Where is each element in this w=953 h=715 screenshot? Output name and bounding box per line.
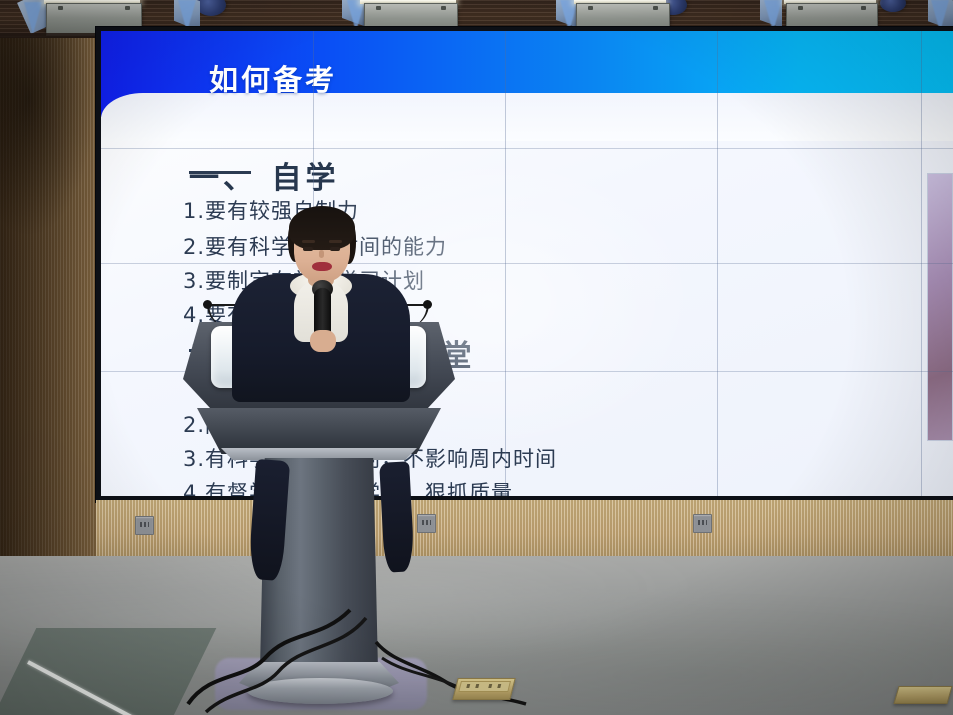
hand	[310, 330, 336, 352]
eyebrow-left	[302, 240, 315, 243]
microphone-capsule	[423, 300, 432, 309]
slide-header-curve	[101, 93, 953, 141]
screenshot-root: 如何备考 一、 自学 1.要有较强自制力 2.要有科学支配时间的能力 3.要制定…	[0, 0, 953, 715]
cardigan-flap-right	[379, 461, 415, 572]
speaker	[232, 212, 410, 402]
wall-outlet[interactable]	[135, 516, 154, 535]
floor-power-outlet[interactable]	[893, 686, 952, 704]
floor-power-outlet[interactable]	[452, 678, 515, 700]
mouth	[312, 262, 332, 271]
eyebrow-right	[329, 240, 342, 243]
led-tile-seam	[101, 263, 953, 264]
outlet-face	[458, 681, 511, 692]
nose	[319, 250, 324, 258]
light-cone	[24, 2, 42, 34]
wall-outlet[interactable]	[693, 514, 712, 533]
section-heading-1: 一、 自学	[189, 153, 339, 197]
led-tile-seam	[101, 148, 953, 149]
slide-title: 如何备考	[209, 57, 337, 99]
wall-shadow	[0, 38, 95, 238]
eye-right	[330, 247, 340, 251]
slide-photo	[927, 173, 953, 441]
hair	[289, 206, 355, 250]
microphone-capsule	[203, 300, 212, 309]
podium-skirt	[197, 408, 441, 454]
eye-left	[303, 247, 313, 251]
step-edge-highlight	[27, 660, 183, 715]
